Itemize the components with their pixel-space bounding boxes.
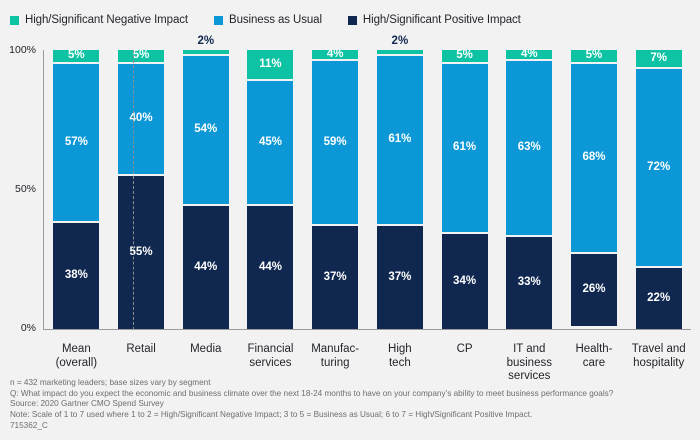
stacked-bar[interactable]: 11%45%44% — [247, 50, 293, 329]
mean-separator-line — [133, 50, 134, 330]
bar-segment-label: 61% — [453, 142, 476, 154]
legend-swatch-icon — [214, 16, 223, 25]
bar-segment-positive[interactable]: 37% — [377, 226, 423, 329]
bar-segment-business-as-usual[interactable]: 59% — [312, 61, 358, 226]
bar-segment-negative[interactable]: 4% — [312, 50, 358, 61]
stacked-bar[interactable]: 5%57%38% — [53, 50, 99, 329]
bar-segment-label: 4% — [521, 49, 538, 61]
chart-legend: High/Significant Negative Impact Busines… — [10, 9, 547, 31]
footnote-question: Q: What impact do you expect the economi… — [10, 389, 696, 400]
plot-area: 100% 50% 0% 5%57%38%5%40%55%2%54%44%11%4… — [0, 40, 700, 340]
bar-segment-business-as-usual[interactable]: 40% — [118, 64, 164, 176]
bar-segment-positive[interactable]: 37% — [312, 226, 358, 329]
bar-column[interactable]: 5%40%55% — [109, 50, 174, 329]
legend-item-business-as-usual[interactable]: Business as Usual — [214, 14, 322, 26]
stacked-bar[interactable]: 7%72%22% — [636, 50, 682, 329]
bar-segment-label: 11% — [259, 59, 281, 71]
y-axis-tick: 50% — [15, 183, 36, 195]
stacked-bar[interactable]: 4%59%37% — [312, 50, 358, 329]
bar-segment-business-as-usual[interactable]: 61% — [377, 56, 423, 226]
bar-column[interactable]: 5%61%34% — [432, 50, 497, 329]
bar-segment-label: 45% — [259, 137, 282, 149]
bar-segment-label: 44% — [259, 262, 282, 274]
footnote-code: 715362_C — [10, 421, 696, 432]
bar-segment-label: 2% — [392, 36, 409, 48]
bar-segment-label: 5% — [68, 50, 85, 62]
bar-segment-negative[interactable]: 7% — [636, 50, 682, 69]
bar-segment-business-as-usual[interactable]: 72% — [636, 69, 682, 268]
bar-segment-positive[interactable]: 22% — [636, 268, 682, 329]
bar-column[interactable]: 5%57%38% — [44, 50, 109, 329]
bar-segment-label: 34% — [453, 276, 476, 288]
bar-segment-label: 7% — [650, 53, 667, 65]
bar-segment-negative[interactable]: 5% — [442, 50, 488, 64]
bar-column[interactable]: 2%54%44% — [173, 50, 238, 329]
bar-segment-label: 59% — [324, 137, 347, 149]
footnotes: n = 432 marketing leaders; base sizes va… — [10, 378, 696, 432]
stacked-bar[interactable]: 5%61%34% — [442, 50, 488, 329]
bar-segment-business-as-usual[interactable]: 54% — [183, 56, 229, 207]
x-axis-line — [43, 329, 691, 330]
stacked-bar-group: 5%57%38%5%40%55%2%54%44%11%45%44%4%59%37… — [44, 50, 691, 329]
bar-column[interactable]: 11%45%44% — [238, 50, 303, 329]
bar-segment-positive[interactable]: 38% — [53, 223, 99, 329]
bar-segment-label: 5% — [133, 50, 150, 62]
bar-segment-positive[interactable]: 44% — [247, 206, 293, 329]
bar-column[interactable]: 2%61%37% — [368, 50, 433, 329]
stacked-bar[interactable]: 5%68%26% — [571, 50, 617, 329]
bar-segment-positive[interactable]: 33% — [506, 237, 552, 329]
bar-segment-positive[interactable]: 55% — [118, 176, 164, 329]
bar-segment-negative[interactable]: 5% — [118, 50, 164, 64]
bar-segment-negative[interactable]: 11% — [247, 50, 293, 81]
bar-segment-negative[interactable]: 4% — [506, 50, 552, 61]
bar-segment-business-as-usual[interactable]: 63% — [506, 61, 552, 237]
bar-segment-label: 5% — [456, 50, 473, 62]
bar-segment-label: 44% — [194, 262, 217, 274]
y-axis-tick: 100% — [9, 44, 36, 56]
bar-segment-negative[interactable]: 5% — [53, 50, 99, 64]
stacked-bar[interactable]: 4%63%33% — [506, 50, 552, 329]
bar-segment-label: 72% — [647, 162, 670, 174]
bar-segment-label: 68% — [582, 152, 605, 164]
bar-segment-label: 22% — [647, 293, 670, 305]
bar-segment-label: 4% — [327, 49, 344, 61]
bar-segment-label: 37% — [324, 272, 347, 284]
bar-segment-business-as-usual[interactable]: 68% — [571, 64, 617, 254]
stacked-bar[interactable]: 2%54%44% — [183, 50, 229, 329]
legend-item-label: High/Significant Negative Impact — [25, 14, 188, 26]
bar-segment-positive[interactable]: 44% — [183, 206, 229, 329]
bar-column[interactable]: 7%72%22% — [626, 50, 691, 329]
footnote-source: Source: 2020 Gartner CMO Spend Survey — [10, 399, 696, 410]
bar-segment-positive[interactable]: 34% — [442, 234, 488, 329]
legend-item-label: High/Significant Positive Impact — [363, 14, 521, 26]
bar-segment-label: 63% — [518, 142, 541, 154]
bar-column[interactable]: 4%59%37% — [303, 50, 368, 329]
bar-segment-business-as-usual[interactable]: 61% — [442, 64, 488, 234]
bar-segment-label: 2% — [197, 36, 214, 48]
footnote-note: Note: Scale of 1 to 7 used where 1 to 2 … — [10, 410, 696, 421]
bar-segment-negative[interactable]: 5% — [571, 50, 617, 64]
legend-item-label: Business as Usual — [229, 14, 322, 26]
bar-segment-label: 5% — [586, 50, 603, 62]
bar-segment-label: 57% — [65, 137, 88, 149]
footnote-sample-size: n = 432 marketing leaders; base sizes va… — [10, 378, 696, 389]
chart-page: High/Significant Negative Impact Busines… — [0, 0, 700, 440]
legend-swatch-icon — [348, 16, 357, 25]
bar-segment-business-as-usual[interactable]: 57% — [53, 64, 99, 223]
legend-swatch-icon — [10, 16, 19, 25]
bar-segment-business-as-usual[interactable]: 45% — [247, 81, 293, 207]
bar-segment-label: 38% — [65, 270, 88, 282]
y-axis-tick: 0% — [21, 322, 36, 334]
bar-segment-label: 37% — [388, 272, 411, 284]
bar-segment-label: 26% — [582, 284, 605, 296]
bar-column[interactable]: 5%68%26% — [562, 50, 627, 329]
bar-segment-label: 61% — [388, 134, 411, 146]
legend-item-positive[interactable]: High/Significant Positive Impact — [348, 14, 521, 26]
y-axis: 100% 50% 0% — [0, 40, 40, 328]
bar-segment-label: 54% — [194, 124, 217, 136]
bar-column[interactable]: 4%63%33% — [497, 50, 562, 329]
bar-segment-positive[interactable]: 26% — [571, 254, 617, 327]
stacked-bar[interactable]: 2%61%37% — [377, 50, 423, 329]
stacked-bar[interactable]: 5%40%55% — [118, 50, 164, 329]
legend-item-negative[interactable]: High/Significant Negative Impact — [10, 14, 188, 26]
bar-segment-label: 33% — [518, 277, 541, 289]
